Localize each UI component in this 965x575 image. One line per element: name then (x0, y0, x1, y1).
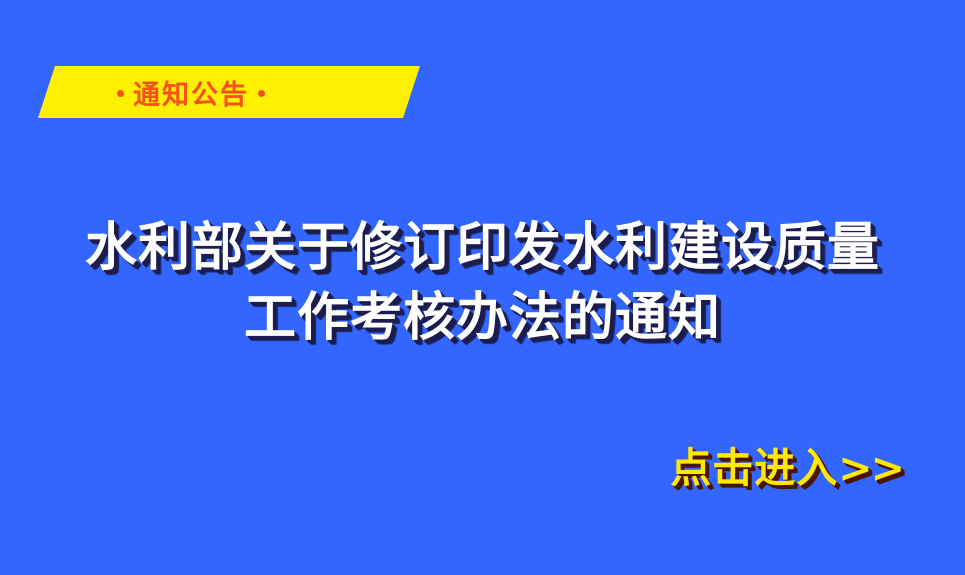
notice-banner-card: 通知公告 水利部关于修订印发水利建设质量 工作考核办法的通知 点击进入>> (0, 0, 965, 575)
tag-text-row: 通知公告 (38, 66, 420, 118)
bullet-dot-leading-icon (117, 90, 124, 97)
enter-link-label: 点击进入 (670, 444, 838, 492)
notice-title-line-1: 水利部关于修订印发水利建设质量 (0, 213, 965, 283)
notice-title: 水利部关于修订印发水利建设质量 工作考核办法的通知 (0, 213, 965, 353)
notice-category-tag: 通知公告 (38, 66, 420, 118)
enter-link[interactable]: 点击进入>> (670, 434, 903, 494)
tag-label: 通知公告 (133, 73, 249, 112)
double-chevron-right-icon: >> (838, 444, 903, 492)
notice-title-line-2: 工作考核办法的通知 (0, 283, 965, 353)
bullet-dot-trailing-icon (258, 90, 265, 97)
